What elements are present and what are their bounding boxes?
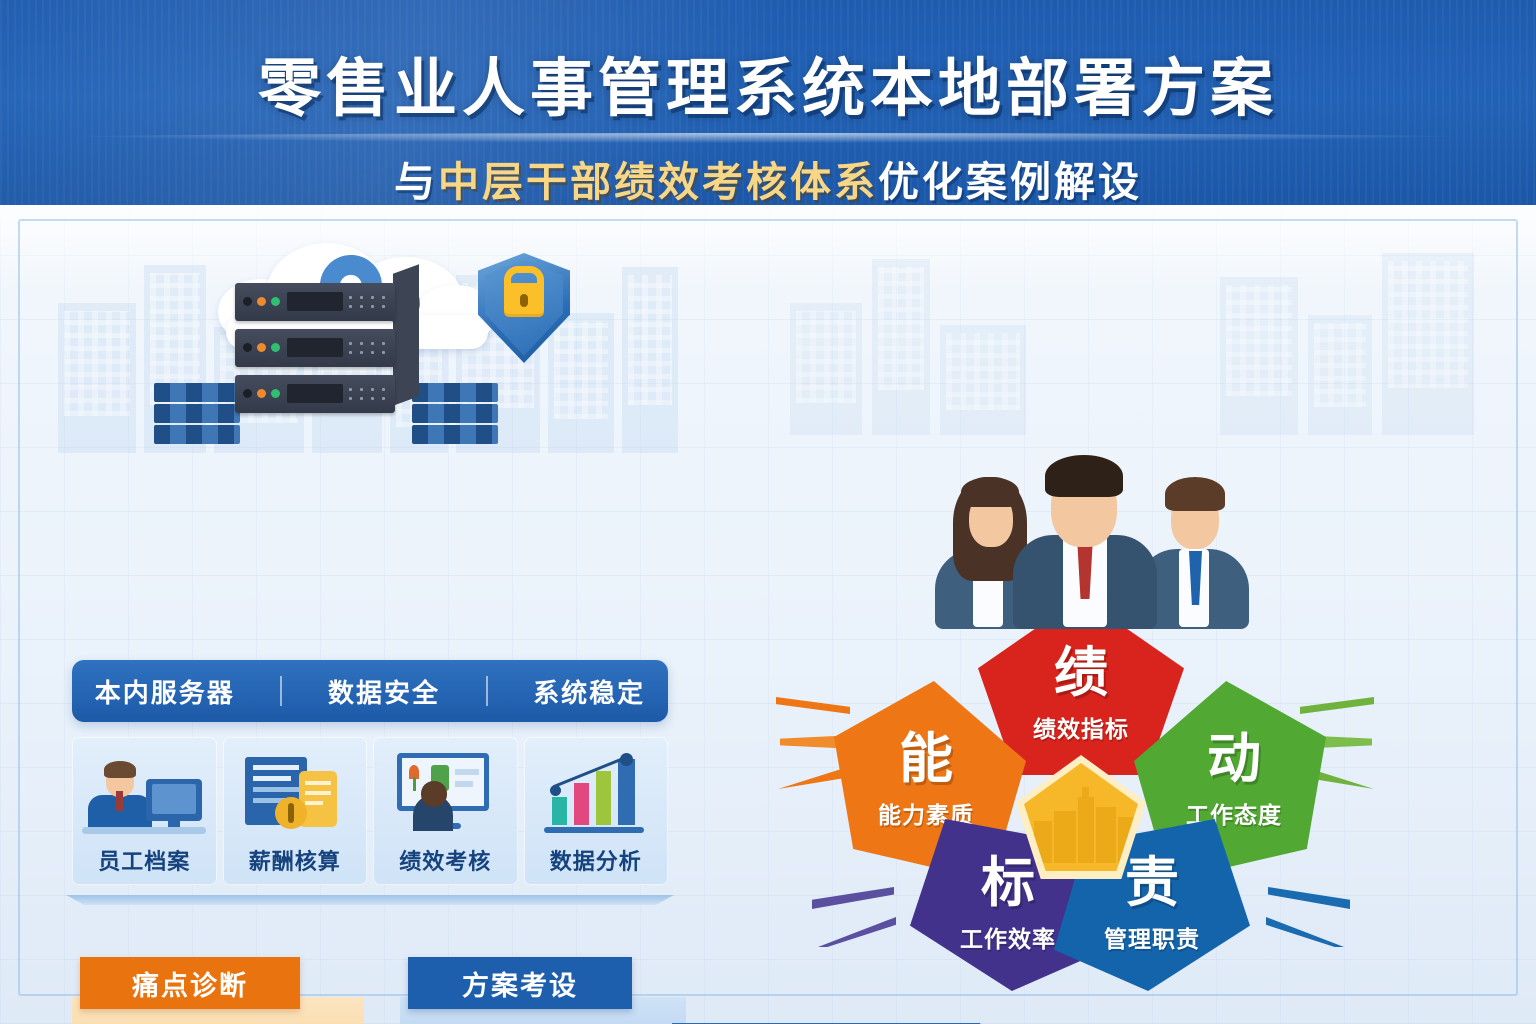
- subtitle-part-1: 与: [394, 159, 438, 205]
- pill-item-1: 数据安全: [328, 673, 440, 710]
- disk-stack-left-icon: [154, 383, 240, 443]
- disk-stack-right-icon: [412, 383, 498, 443]
- subtitle-part-2: 优化案例解设: [878, 159, 1142, 205]
- pentagon-glyph-bottom-left: 标: [981, 856, 1035, 910]
- payroll-document-icon: [223, 743, 368, 833]
- bar-chart-icon: [524, 743, 669, 833]
- employee-desk-icon: [72, 743, 217, 833]
- pentagon-diagram: 绩 绩效指标 能 能力素质 动 工作态度 标 工作效率 责 管理职责: [800, 595, 1360, 995]
- feature-card-payroll[interactable]: 薪酬核算: [223, 737, 368, 885]
- pentagon-glyph-top: 绩: [1054, 646, 1108, 700]
- feature-caption-2: 绩效考核: [373, 844, 518, 876]
- ray-group-bottom-left: [802, 883, 922, 973]
- server-rack-icon: [235, 283, 403, 413]
- pentagon-glyph-bottom-right: 责: [1125, 856, 1179, 910]
- lock-icon: [504, 283, 544, 317]
- infrastructure-illustration: [60, 221, 680, 471]
- solution-card: 生产实施 持续改进 方案考设: [400, 957, 686, 1024]
- pill-separator-1: [486, 676, 488, 706]
- pentagon-glyph-left: 能: [899, 732, 953, 786]
- pain-point-card-title: 痛点诊断: [80, 957, 300, 1009]
- poster-body: 本内服务器 数据安全 系统稳定 员工档案: [0, 205, 1536, 1024]
- pentagon-glyph-right: 动: [1207, 732, 1261, 786]
- pill-item-2: 系统稳定: [533, 673, 645, 710]
- pentagon-label-bottom-right: 管理职责: [1104, 920, 1200, 954]
- infographic-poster: 零售业人事管理系统本地部署方案 与中层干部绩效考核体系优化案例解设: [0, 0, 1536, 1024]
- feature-card-performance[interactable]: 绩效考核: [373, 737, 518, 885]
- ray-group-bottom-right: [1240, 883, 1360, 973]
- feature-caption-3: 数据分析: [524, 844, 669, 876]
- pill-separator-0: [280, 676, 282, 706]
- pentagon-label-bottom-left: 工作效率: [960, 920, 1056, 954]
- page-subtitle: 与中层干部绩效考核体系优化案例解设: [0, 148, 1536, 208]
- poster-header: 零售业人事管理系统本地部署方案 与中层干部绩效考核体系优化案例解设: [0, 0, 1536, 215]
- pain-point-card: 流程冗长 提升效率 痛点诊断: [72, 957, 364, 1024]
- feature-card-row: 员工档案 薪酬核算: [72, 737, 668, 885]
- performance-board-icon: [373, 743, 518, 833]
- page-title: 零售业人事管理系统本地部署方案: [0, 38, 1536, 129]
- solution-card-title: 方案考设: [408, 957, 632, 1009]
- section-divider: [66, 895, 674, 905]
- city-backdrop-right: [790, 235, 1490, 435]
- feature-caption-0: 员工档案: [72, 844, 217, 876]
- team-member-lead: [1013, 451, 1157, 627]
- feature-card-employee[interactable]: 员工档案: [72, 737, 217, 885]
- people-silhouette-group: [1090, 1017, 1510, 1024]
- shield-lock-icon: [478, 253, 570, 363]
- benefits-pill-bar: 本内服务器 数据安全 系统稳定: [72, 660, 668, 722]
- subtitle-highlight: 中层干部绩效考核体系: [438, 159, 878, 205]
- pill-item-0: 本内服务器: [95, 673, 235, 710]
- pentagon-label-top: 绩效指标: [1033, 710, 1129, 744]
- feature-card-analytics[interactable]: 数据分析: [524, 737, 669, 885]
- title-divider: [40, 133, 1496, 143]
- feature-caption-1: 薪酬核算: [223, 844, 368, 876]
